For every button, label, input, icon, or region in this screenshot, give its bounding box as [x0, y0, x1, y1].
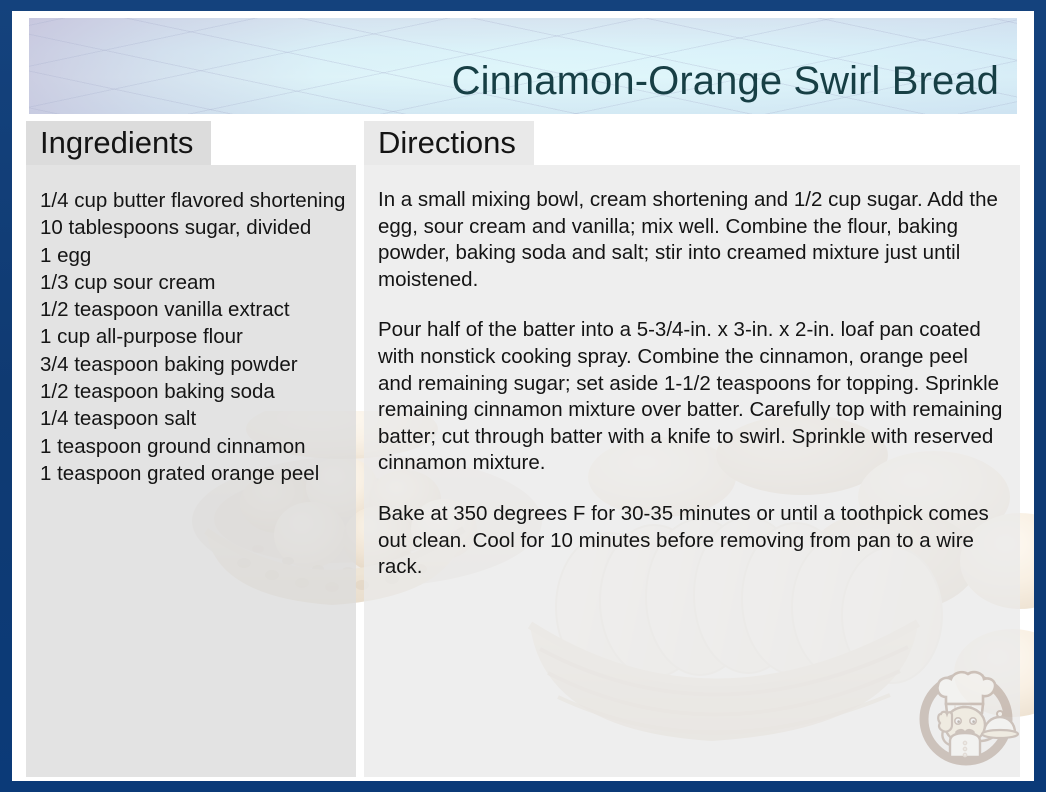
directions-paragraph: Bake at 350 degrees F for 30-35 minutes …	[378, 501, 1006, 581]
directions-panel-body: In a small mixing bowl, cream shortening…	[364, 165, 1020, 777]
directions-paragraph: In a small mixing bowl, cream shortening…	[378, 187, 1006, 293]
list-item: 1/2 teaspoon baking soda	[40, 378, 342, 405]
list-item: 10 tablespoons sugar, divided	[40, 214, 342, 241]
recipe-card-frame: Cinnamon-Orange Swirl Bread	[0, 0, 1046, 792]
page-title: Cinnamon-Orange Swirl Bread	[452, 60, 999, 102]
list-item: 3/4 teaspoon baking powder	[40, 351, 342, 378]
ingredients-tab: Ingredients	[26, 121, 211, 165]
ingredients-heading: Ingredients	[40, 125, 193, 160]
directions-paragraph: Pour half of the batter into a 5-3/4-in.…	[378, 317, 1006, 477]
list-item: 1 teaspoon grated orange peel	[40, 460, 342, 487]
list-item: 1/4 teaspoon salt	[40, 405, 342, 432]
list-item: 1 egg	[40, 242, 342, 269]
directions-panel: Directions In a small mixing bowl, cream…	[364, 121, 1020, 777]
content-panels: Ingredients 1/4 cup butter flavored shor…	[12, 121, 1034, 781]
list-item: 1/4 cup butter flavored shortening	[40, 187, 342, 214]
recipe-card-inner: Cinnamon-Orange Swirl Bread	[12, 11, 1034, 781]
list-item: 1 teaspoon ground cinnamon	[40, 433, 342, 460]
directions-tab: Directions	[364, 121, 534, 165]
list-item: 1 cup all-purpose flour	[40, 323, 342, 350]
title-band: Cinnamon-Orange Swirl Bread	[29, 18, 1017, 114]
ingredients-panel-body: 1/4 cup butter flavored shortening 10 ta…	[26, 165, 356, 777]
directions-heading: Directions	[378, 125, 516, 160]
list-item: 1/3 cup sour cream	[40, 269, 342, 296]
list-item: 1/2 teaspoon vanilla extract	[40, 296, 342, 323]
ingredients-list: 1/4 cup butter flavored shortening 10 ta…	[40, 187, 342, 487]
ingredients-panel: Ingredients 1/4 cup butter flavored shor…	[26, 121, 356, 777]
